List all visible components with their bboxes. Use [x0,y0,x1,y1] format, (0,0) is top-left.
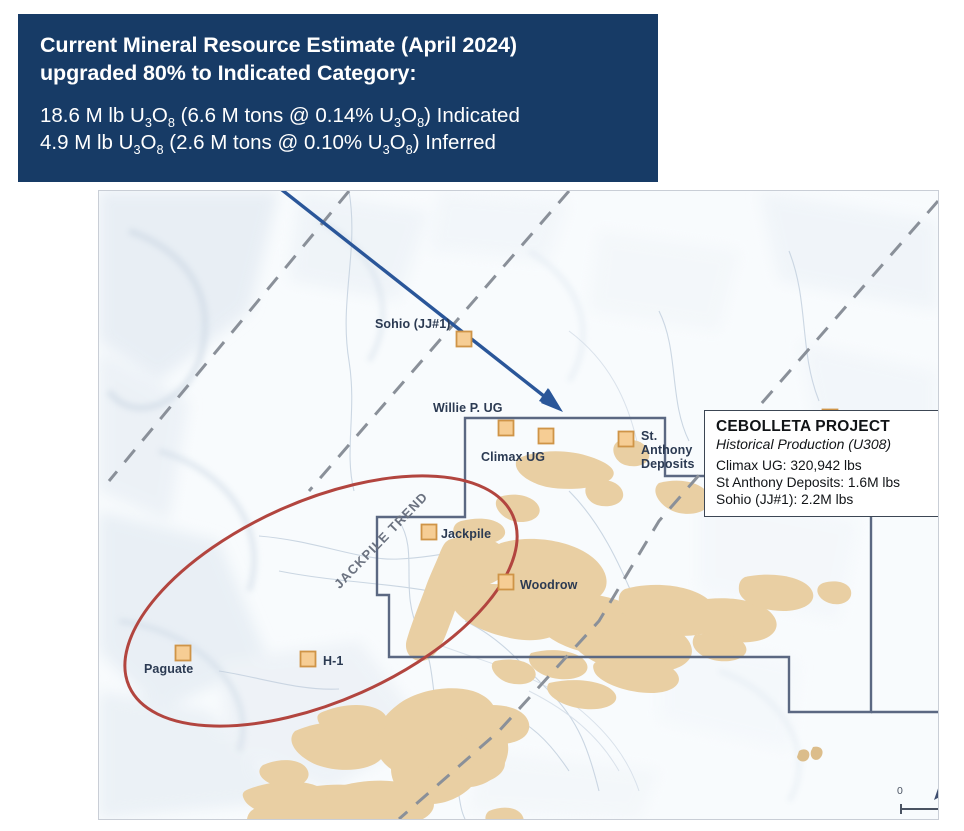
deposit-label-sohio-jj-1: Sohio (JJ#1) [375,317,451,331]
deposit-marker-sohio-jj-1[interactable] [457,332,472,347]
north-arrow-icon [934,757,939,800]
info-box-title: CEBOLLETA PROJECT [716,418,937,436]
deposit-label-willie-p-ug: Willie P. UG [433,401,503,415]
scale-min-label: 0 [897,785,903,797]
callout-inferred-stat: 4.9 M lb U3O8 (2.6 M tons @ 0.10% U3O8) … [40,129,636,156]
info-box-subtitle: Historical Production (U308) [716,436,937,452]
deposit-label-woodrow: Woodrow [520,578,577,592]
scale-bar-and-north-arrow: 0 2 KM [893,751,939,820]
deposit-marker-jackpile[interactable] [422,525,437,540]
deposit-label-jackpile: Jackpile [441,527,491,541]
deposit-marker-paguate[interactable] [176,646,191,661]
deposit-label-h-1: H-1 [323,654,343,668]
cebolleta-project-info-box: CEBOLLETA PROJECT Historical Production … [704,410,939,517]
deposit-marker-woodrow[interactable] [499,575,514,590]
deposit-label-paguate: Paguate [144,662,193,676]
deposit-marker-h-1[interactable] [301,652,316,667]
resource-estimate-callout: Current Mineral Resource Estimate (April… [18,14,658,182]
callout-indicated-stat: 18.6 M lb U3O8 (6.6 M tons @ 0.14% U3O8)… [40,102,636,129]
callout-headline-line1: Current Mineral Resource Estimate (April… [40,32,636,60]
info-box-line-1: St Anthony Deposits: 1.6M lbs [716,475,937,490]
deposit-label-st-anthony-deposits: St. AnthonyDeposits [641,429,711,471]
cebolleta-project-map: JACKPILE TREND Sohio (JJ#1)Willie P. UGC… [98,190,939,820]
deposit-label-climax-ug: Climax UG [481,450,545,464]
deposit-marker-willie-p-ug[interactable] [499,421,514,436]
deposit-marker-st-anthony-deposits[interactable] [619,432,634,447]
scale-unit-label: KM [938,811,939,820]
info-box-line-0: Climax UG: 320,942 lbs [716,458,937,473]
deposit-marker-climax-ug[interactable] [539,429,554,444]
info-box-line-2: Sohio (JJ#1): 2.2M lbs [716,492,937,507]
callout-headline-line2: upgraded 80% to Indicated Category: [40,60,636,88]
